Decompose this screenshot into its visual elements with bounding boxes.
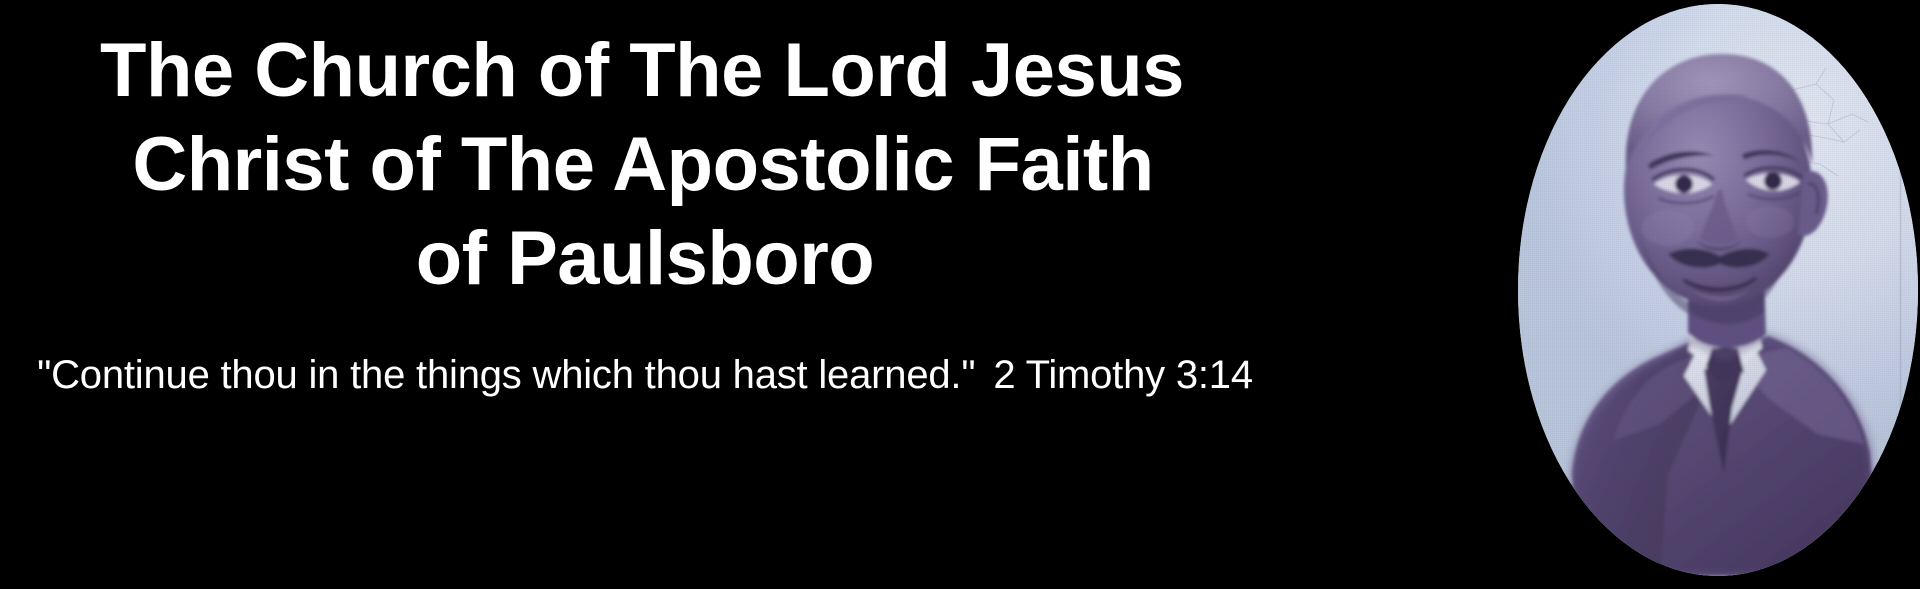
- portrait-oval-frame: [1518, 4, 1918, 576]
- portrait-container: [1518, 4, 1918, 576]
- page-title-line-3: of Paulsboro: [416, 212, 874, 306]
- church-banner: The Church of The Lord Jesus Christ of T…: [0, 0, 1920, 589]
- page-title-line-2: Christ of The Apostolic Faith: [132, 118, 1153, 212]
- scripture-reference: 2 Timothy 3:14: [993, 353, 1253, 397]
- page-title-line-1: The Church of The Lord Jesus: [100, 24, 1184, 118]
- scripture-quote: "Continue thou in the things which thou …: [37, 353, 975, 397]
- banner-text-block: The Church of The Lord Jesus Christ of T…: [0, 0, 1290, 589]
- portrait-film-grain: [1518, 4, 1918, 576]
- scripture-subtitle: "Continue thou in the things which thou …: [37, 350, 1253, 400]
